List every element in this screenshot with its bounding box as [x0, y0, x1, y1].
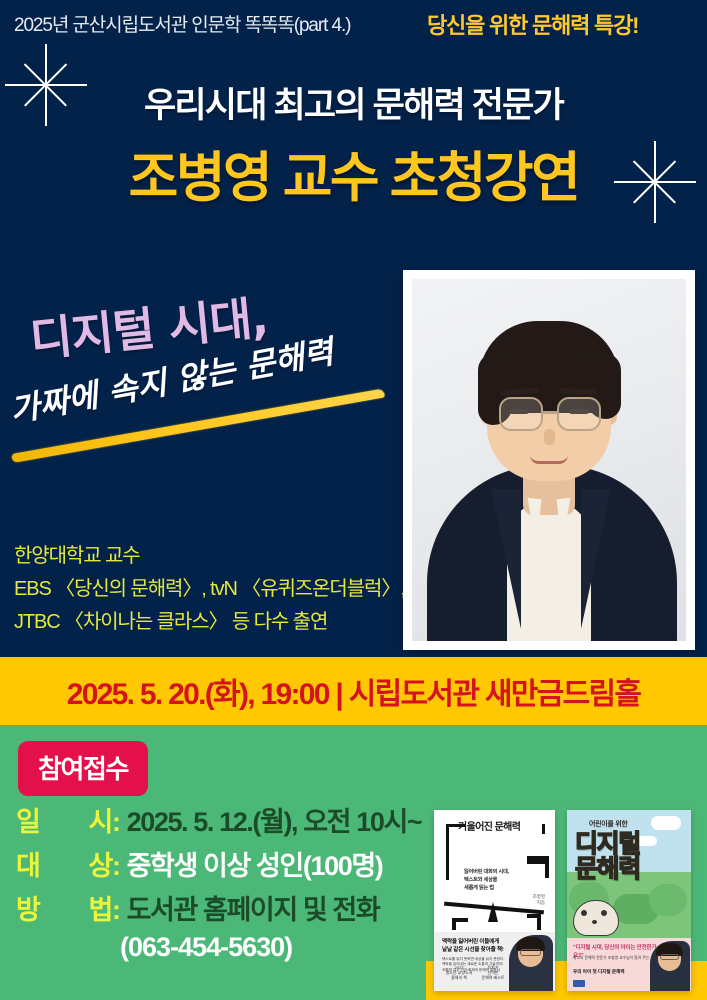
info-row: 방 법 : 도서관 홈페이지 및 전화: [16, 888, 436, 927]
book-cover-1: 기울어진 문해력 잃어버린 대화의 시대, 텍스트와 세상을 새롭게 읽는 법 …: [434, 810, 555, 991]
book-1-author: 조병영 지음: [533, 894, 545, 906]
info-colon: :: [112, 807, 120, 838]
info-label: 대 상: [16, 844, 112, 883]
poster-header-badge: 당신을 위한 문해력 특강!: [427, 8, 638, 40]
speaker-credentials: 한양대학교 교수 EBS 〈당신의 문해력〉, tvN 〈유퀴즈온더블럭〉, J…: [14, 540, 414, 639]
script-block: 디지털 시대, 가짜에 속지 않는 문해력: [0, 300, 400, 470]
book-2-kicker: 어린이를 위한: [589, 819, 628, 829]
info-label: 방 법: [16, 888, 112, 927]
credential-line-1: 한양대학교 교수: [14, 540, 414, 573]
info-label-char-1: 방: [16, 888, 39, 927]
book-1-author-photo: [509, 935, 553, 991]
info-label-char-1: 일: [16, 800, 39, 839]
date-venue-bar: 2025. 5. 20.(화), 19:00 | 시립도서관 새만금드림홀: [0, 657, 707, 725]
book-2-band-small: 최고의 문해력 전문가 조병영 교수님이 알려 주는: [573, 955, 657, 961]
speaker-portrait-frame: [403, 270, 695, 650]
publisher-logo-icon: [573, 980, 585, 987]
poster-kicker: 2025년 군산시립도서관 인문학 똑똑똑(part 4.): [14, 10, 350, 37]
title-subheadline: 우리시대 최고의 문해력 전문가: [0, 77, 707, 128]
book-2-author-photo: [650, 941, 690, 991]
info-colon: :: [112, 851, 120, 882]
book-2-title: 디지털 문해력: [575, 832, 685, 882]
book-1-award-2: 독자가 선택한 문해력 베스트: [478, 965, 508, 987]
info-value: 중학생 이상 성인(100명): [127, 844, 383, 883]
book-1-subtitle: 잃어버린 대화의 시대, 텍스트와 세상을 새롭게 읽는 법: [464, 868, 534, 892]
info-label-char-2: 법: [89, 888, 112, 927]
info-label-char-2: 상: [89, 844, 112, 883]
book-cover-2: 어린이를 위한 디지털 문해력 "디지털 시대, 당신의 아이는 안전한가요?"…: [567, 810, 691, 991]
registration-badge: 참여접수: [18, 741, 148, 796]
registration-info-list: 일 시 : 2025. 5. 12.(월), 오전 10시~ 대 상 : 중학생…: [16, 800, 436, 963]
info-row: 일 시 : 2025. 5. 12.(월), 오전 10시~: [16, 800, 436, 839]
book-1-title: 기울어진 문해력: [458, 818, 551, 833]
book-1-award-1: 2023 청소년 교양도서 올해의 책: [444, 965, 474, 987]
info-value: 도서관 홈페이지 및 전화: [127, 888, 380, 927]
speaker-portrait-photo: [412, 279, 686, 641]
book-2-band-bold: 우리 아이 첫 디지털 문해력: [573, 969, 657, 975]
info-label-char-1: 대: [16, 844, 39, 883]
poster-root: 2025년 군산시립도서관 인문학 똑똑똑(part 4.) 당신을 위한 문해…: [0, 0, 707, 1000]
credential-line-2: EBS 〈당신의 문해력〉, tvN 〈유퀴즈온더블럭〉,: [14, 573, 414, 606]
info-value: 2025. 5. 12.(월), 오전 10시~: [127, 800, 422, 839]
book-1-band-headline: 맥락을 잃어버린 이들에게 날날 같은 시선을 찾아줄 책!: [442, 938, 514, 954]
credential-line-3: JTBC 〈차이나는 클라스〉 등 다수 출연: [14, 606, 414, 639]
info-label: 일 시: [16, 800, 112, 839]
info-row: 대 상 : 중학생 이상 성인(100명): [16, 844, 436, 883]
registration-phone[interactable]: (063-454-5630): [120, 932, 436, 963]
info-label-char-2: 시: [89, 800, 112, 839]
page-title: 조병영 교수 초청강연: [0, 133, 707, 212]
date-venue-text: 2025. 5. 20.(화), 19:00 | 시립도서관 새만금드림홀: [67, 669, 641, 713]
info-colon: :: [112, 895, 120, 926]
